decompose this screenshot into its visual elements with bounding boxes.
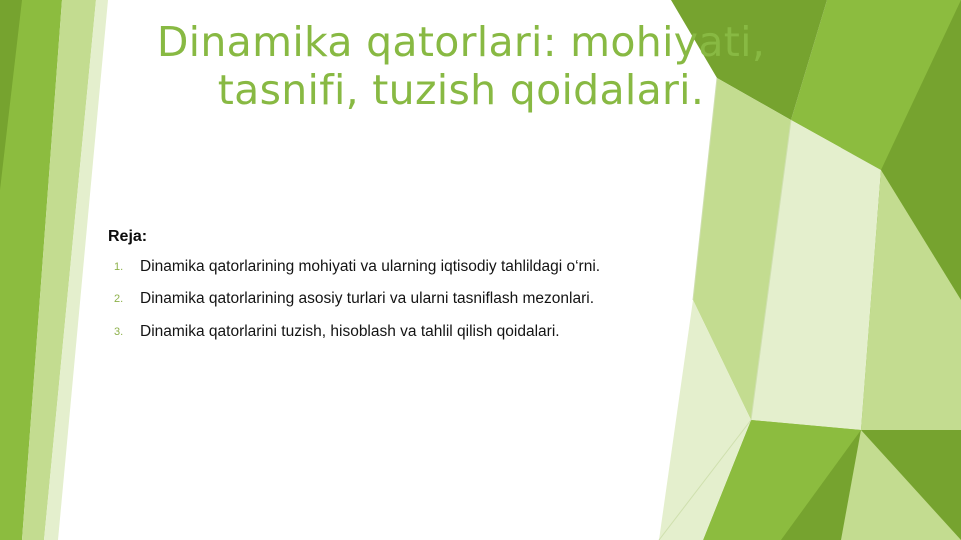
reja-list: 1. Dinamika qatorlarining mohiyati va ul… (108, 257, 748, 342)
list-item-number: 3. (114, 325, 123, 340)
slide-title: Dinamika qatorlari: mohiyati, tasnifi, t… (96, 18, 826, 115)
list-item: 3. Dinamika qatorlarini tuzish, hisoblas… (108, 322, 748, 342)
list-item-number: 2. (114, 292, 123, 307)
list-item: 1. Dinamika qatorlarining mohiyati va ul… (108, 257, 748, 277)
list-item-text: Dinamika qatorlarining asosiy turlari va… (140, 290, 594, 307)
slide-canvas: Dinamika qatorlari: mohiyati, tasnifi, t… (0, 0, 961, 540)
list-item: 2. Dinamika qatorlarining asosiy turlari… (108, 289, 748, 309)
list-item-text: Dinamika qatorlarini tuzish, hisoblash v… (140, 323, 560, 340)
reja-label: Reja: (108, 228, 748, 246)
list-item-number: 1. (114, 260, 123, 275)
list-item-text: Dinamika qatorlarining mohiyati va ularn… (140, 258, 600, 275)
slide-body: Reja: 1. Dinamika qatorlarining mohiyati… (108, 228, 748, 354)
